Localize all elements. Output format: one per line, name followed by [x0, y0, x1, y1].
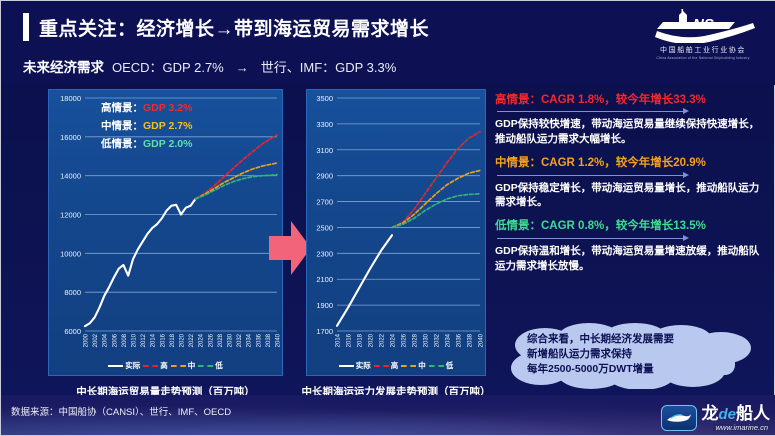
svg-text:2700: 2700: [316, 198, 333, 207]
svg-text:12000: 12000: [60, 211, 81, 220]
svg-text:2022: 2022: [380, 333, 386, 347]
slide-footer: 数据来源：中国船协（CANSI）、世行、IMF、OECD 龙de船人 www.i…: [1, 395, 775, 435]
svg-text:3100: 3100: [316, 146, 333, 155]
svg-text:2036: 2036: [457, 333, 463, 347]
svg-text:2028: 2028: [218, 333, 224, 347]
svg-text:2032: 2032: [435, 333, 441, 347]
svg-text:2024: 2024: [391, 333, 397, 347]
scenario-value-mid: GDP 2.7%: [143, 120, 192, 132]
summary-line-2: 新增船队运力需求保持: [527, 347, 739, 362]
svg-text:2024: 2024: [199, 333, 205, 347]
watermark-cn: 龙de船人: [701, 405, 770, 422]
svg-text:2300: 2300: [316, 249, 333, 258]
cansi-mark-svg: NS: [647, 9, 759, 43]
analysis-body-low: GDP保持温和增长，带动海运贸易量增速放缓，推动船队运力需求增长放慢。: [495, 244, 767, 274]
chart-fleet-capacity: 1700190021002300250027002900310033003500…: [306, 89, 486, 376]
imarine-watermark: 龙de船人 www.imarine.cn: [661, 405, 770, 432]
svg-text:2016: 2016: [347, 333, 353, 347]
svg-text:2030: 2030: [228, 333, 234, 347]
legend-item-mid: 中: [401, 360, 426, 371]
scenario-legend-box: 高情景：GDP 3.2% 中情景：GDP 2.7% 低情景：GDP 2.0%: [101, 100, 192, 151]
chart-left-legend: 实际 高 中 低: [49, 360, 282, 371]
legend-label-mid: 中: [418, 360, 426, 371]
svg-text:2030: 2030: [424, 333, 430, 347]
logo-cn-name: 中国船舶工业行业协会: [644, 45, 762, 55]
svg-text:2900: 2900: [316, 172, 333, 181]
legend-swatch-actual: [339, 365, 354, 367]
legend-label-actual: 实际: [356, 360, 371, 371]
legend-swatch-low: [198, 365, 213, 367]
analysis-head-mid: 中情景：CAGR 1.2%，较今年增长20.9%: [495, 156, 767, 170]
analysis-rule-high: [495, 108, 767, 115]
svg-text:3500: 3500: [316, 94, 333, 103]
scenario-row-high: 高情景：GDP 3.2%: [101, 100, 192, 115]
scenario-label-low: 低情景：: [101, 138, 143, 150]
svg-text:2014: 2014: [336, 333, 342, 347]
svg-text:10000: 10000: [60, 249, 81, 258]
title-text: 重点关注：经济增长→带到海运贸易需求增长: [39, 14, 429, 41]
legend-swatch-high: [374, 365, 389, 367]
legend-item-actual: 实际: [339, 360, 371, 371]
subtitle: 未来经济需求 OECD：GDP 2.7% → 世行、IMF：GDP 3.3%: [23, 56, 396, 76]
watermark-name: 龙de船人 www.imarine.cn: [701, 405, 770, 432]
slide-root: 重点关注：经济增长→带到海运贸易需求增长 未来经济需求 OECD：GDP 2.7…: [0, 0, 775, 436]
svg-text:2038: 2038: [266, 333, 272, 347]
svg-text:2040: 2040: [479, 333, 485, 347]
legend-label-high: 高: [160, 360, 168, 371]
svg-text:2020: 2020: [180, 333, 186, 347]
analysis-column: 高情景：CAGR 1.8%，较今年增长33.3% GDP保持较快增速，带动海运贸…: [495, 93, 767, 283]
subtitle-label: 未来经济需求: [23, 56, 104, 76]
subtitle-value-worldbank-imf: 世行、IMF：GDP 3.3%: [261, 57, 397, 76]
summary-callout-text: 综合来看，中长期经济发展需要 新增船队运力需求保持 每年2500-5000万DW…: [527, 332, 739, 377]
svg-text:2034: 2034: [247, 333, 253, 347]
svg-text:2000: 2000: [84, 333, 90, 347]
chart-seaborne-trade-volume: 6000800010000120001400016000180002000200…: [48, 89, 283, 376]
summary-callout: 综合来看，中长期经济发展需要 新增船队运力需求保持 每年2500-5000万DW…: [501, 323, 759, 389]
legend-swatch-mid: [401, 365, 416, 367]
logo-en-name: China Association of the National Shipbu…: [644, 56, 762, 60]
legend-swatch-high: [143, 365, 158, 367]
legend-item-high: 高: [374, 360, 399, 371]
legend-label-high: 高: [391, 360, 399, 371]
analysis-block-low: 低情景：CAGR 0.8%，较今年增长13.5% GDP保持温和增长，带动海运贸…: [495, 219, 767, 273]
svg-text:2004: 2004: [103, 333, 109, 347]
scenario-label-high: 高情景：: [101, 102, 143, 114]
watermark-cn-b: 船人: [736, 404, 770, 423]
svg-text:2034: 2034: [446, 333, 452, 347]
svg-text:2038: 2038: [468, 333, 474, 347]
data-source-text: 数据来源：中国船协（CANSI）、世行、IMF、OECD: [11, 404, 231, 418]
analysis-body-mid: GDP保持稳定增长，带动海运贸易量增长，推动船队运力需求增长。: [495, 181, 767, 211]
svg-text:2006: 2006: [112, 333, 118, 347]
legend-item-high: 高: [143, 360, 168, 371]
svg-text:NS: NS: [693, 16, 714, 33]
chart-right-legend: 实际 高 中 低: [307, 360, 485, 371]
scenario-row-low: 低情景：GDP 2.0%: [101, 136, 192, 151]
page-title: 重点关注：经济增长→带到海运贸易需求增长: [23, 13, 429, 41]
svg-text:2100: 2100: [316, 275, 333, 284]
arrow-glyph: →: [232, 60, 253, 75]
legend-item-low: 低: [198, 360, 223, 371]
right-arrow-icon: [269, 219, 311, 277]
watermark-badge-icon: [661, 405, 697, 431]
legend-label-low: 低: [446, 360, 454, 371]
summary-line-3: 每年2500-5000万DWT增量: [527, 362, 739, 377]
slide-header: 重点关注：经济增长→带到海运贸易需求增长 未来经济需求 OECD：GDP 2.7…: [1, 1, 775, 85]
chart-right-plot: 1700190021002300250027002900310033003500…: [307, 90, 485, 375]
svg-text:1700: 1700: [316, 327, 333, 336]
svg-text:2020: 2020: [369, 333, 375, 347]
svg-text:2016: 2016: [160, 333, 166, 347]
scenario-value-low: GDP 2.0%: [143, 138, 192, 150]
svg-text:2026: 2026: [208, 333, 214, 347]
svg-text:2028: 2028: [413, 333, 419, 347]
watermark-cn-de: de: [718, 406, 736, 423]
analysis-block-high: 高情景：CAGR 1.8%，较今年增长33.3% GDP保持较快增速，带动海运贸…: [495, 93, 767, 147]
svg-text:2036: 2036: [256, 333, 262, 347]
svg-text:2022: 2022: [189, 333, 195, 347]
cansi-logo: NS 中国船舶工业行业协会 China Association of the N…: [644, 9, 762, 60]
svg-text:2032: 2032: [237, 333, 243, 347]
svg-text:2018: 2018: [358, 333, 364, 347]
subtitle-value-oecd: OECD：GDP 2.7%: [112, 57, 224, 76]
svg-text:1900: 1900: [316, 301, 333, 310]
analysis-rule-low: [495, 235, 767, 242]
legend-swatch-low: [429, 365, 444, 367]
svg-text:2500: 2500: [316, 223, 333, 232]
legend-item-actual: 实际: [108, 360, 140, 371]
legend-swatch-actual: [108, 365, 123, 367]
legend-label-low: 低: [215, 360, 223, 371]
legend-label-mid: 中: [188, 360, 196, 371]
analysis-head-low: 低情景：CAGR 0.8%，较今年增长13.5%: [495, 219, 767, 233]
cansi-logo-icon: NS: [644, 9, 762, 43]
svg-text:2002: 2002: [93, 333, 99, 347]
svg-text:2012: 2012: [141, 333, 147, 347]
scenario-label-mid: 中情景：: [101, 120, 143, 132]
legend-swatch-mid: [171, 365, 186, 367]
chart-right-svg: 1700190021002300250027002900310033003500…: [307, 90, 487, 377]
svg-text:18000: 18000: [60, 94, 81, 103]
dragon-boat-icon: [665, 409, 693, 427]
svg-text:8000: 8000: [64, 288, 81, 297]
scenario-row-mid: 中情景：GDP 2.7%: [101, 118, 192, 133]
analysis-body-high: GDP保持较快增速，带动海运贸易量继续保持快速增长，推动船队运力需求大幅增长。: [495, 117, 767, 147]
summary-line-1: 综合来看，中长期经济发展需要: [527, 332, 739, 347]
svg-text:2008: 2008: [122, 333, 128, 347]
watermark-url: www.imarine.cn: [713, 424, 770, 432]
title-accent-bar: [23, 13, 29, 41]
svg-text:2018: 2018: [170, 333, 176, 347]
legend-label-actual: 实际: [125, 360, 140, 371]
analysis-block-mid: 中情景：CAGR 1.2%，较今年增长20.9% GDP保持稳定增长，带动海运贸…: [495, 156, 767, 210]
svg-text:6000: 6000: [64, 327, 81, 336]
svg-text:16000: 16000: [60, 133, 81, 142]
svg-text:2010: 2010: [132, 333, 138, 347]
analysis-rule-mid: [495, 172, 767, 179]
right-arrow-svg: [269, 219, 311, 277]
svg-text:2040: 2040: [276, 333, 282, 347]
svg-text:14000: 14000: [60, 172, 81, 181]
legend-item-low: 低: [429, 360, 454, 371]
analysis-head-high: 高情景：CAGR 1.8%，较今年增长33.3%: [495, 93, 767, 107]
svg-text:2014: 2014: [151, 333, 157, 347]
svg-text:3300: 3300: [316, 120, 333, 129]
legend-item-mid: 中: [171, 360, 196, 371]
svg-text:2026: 2026: [402, 333, 408, 347]
watermark-cn-a: 龙: [701, 404, 718, 423]
scenario-value-high: GDP 3.2%: [143, 102, 192, 114]
